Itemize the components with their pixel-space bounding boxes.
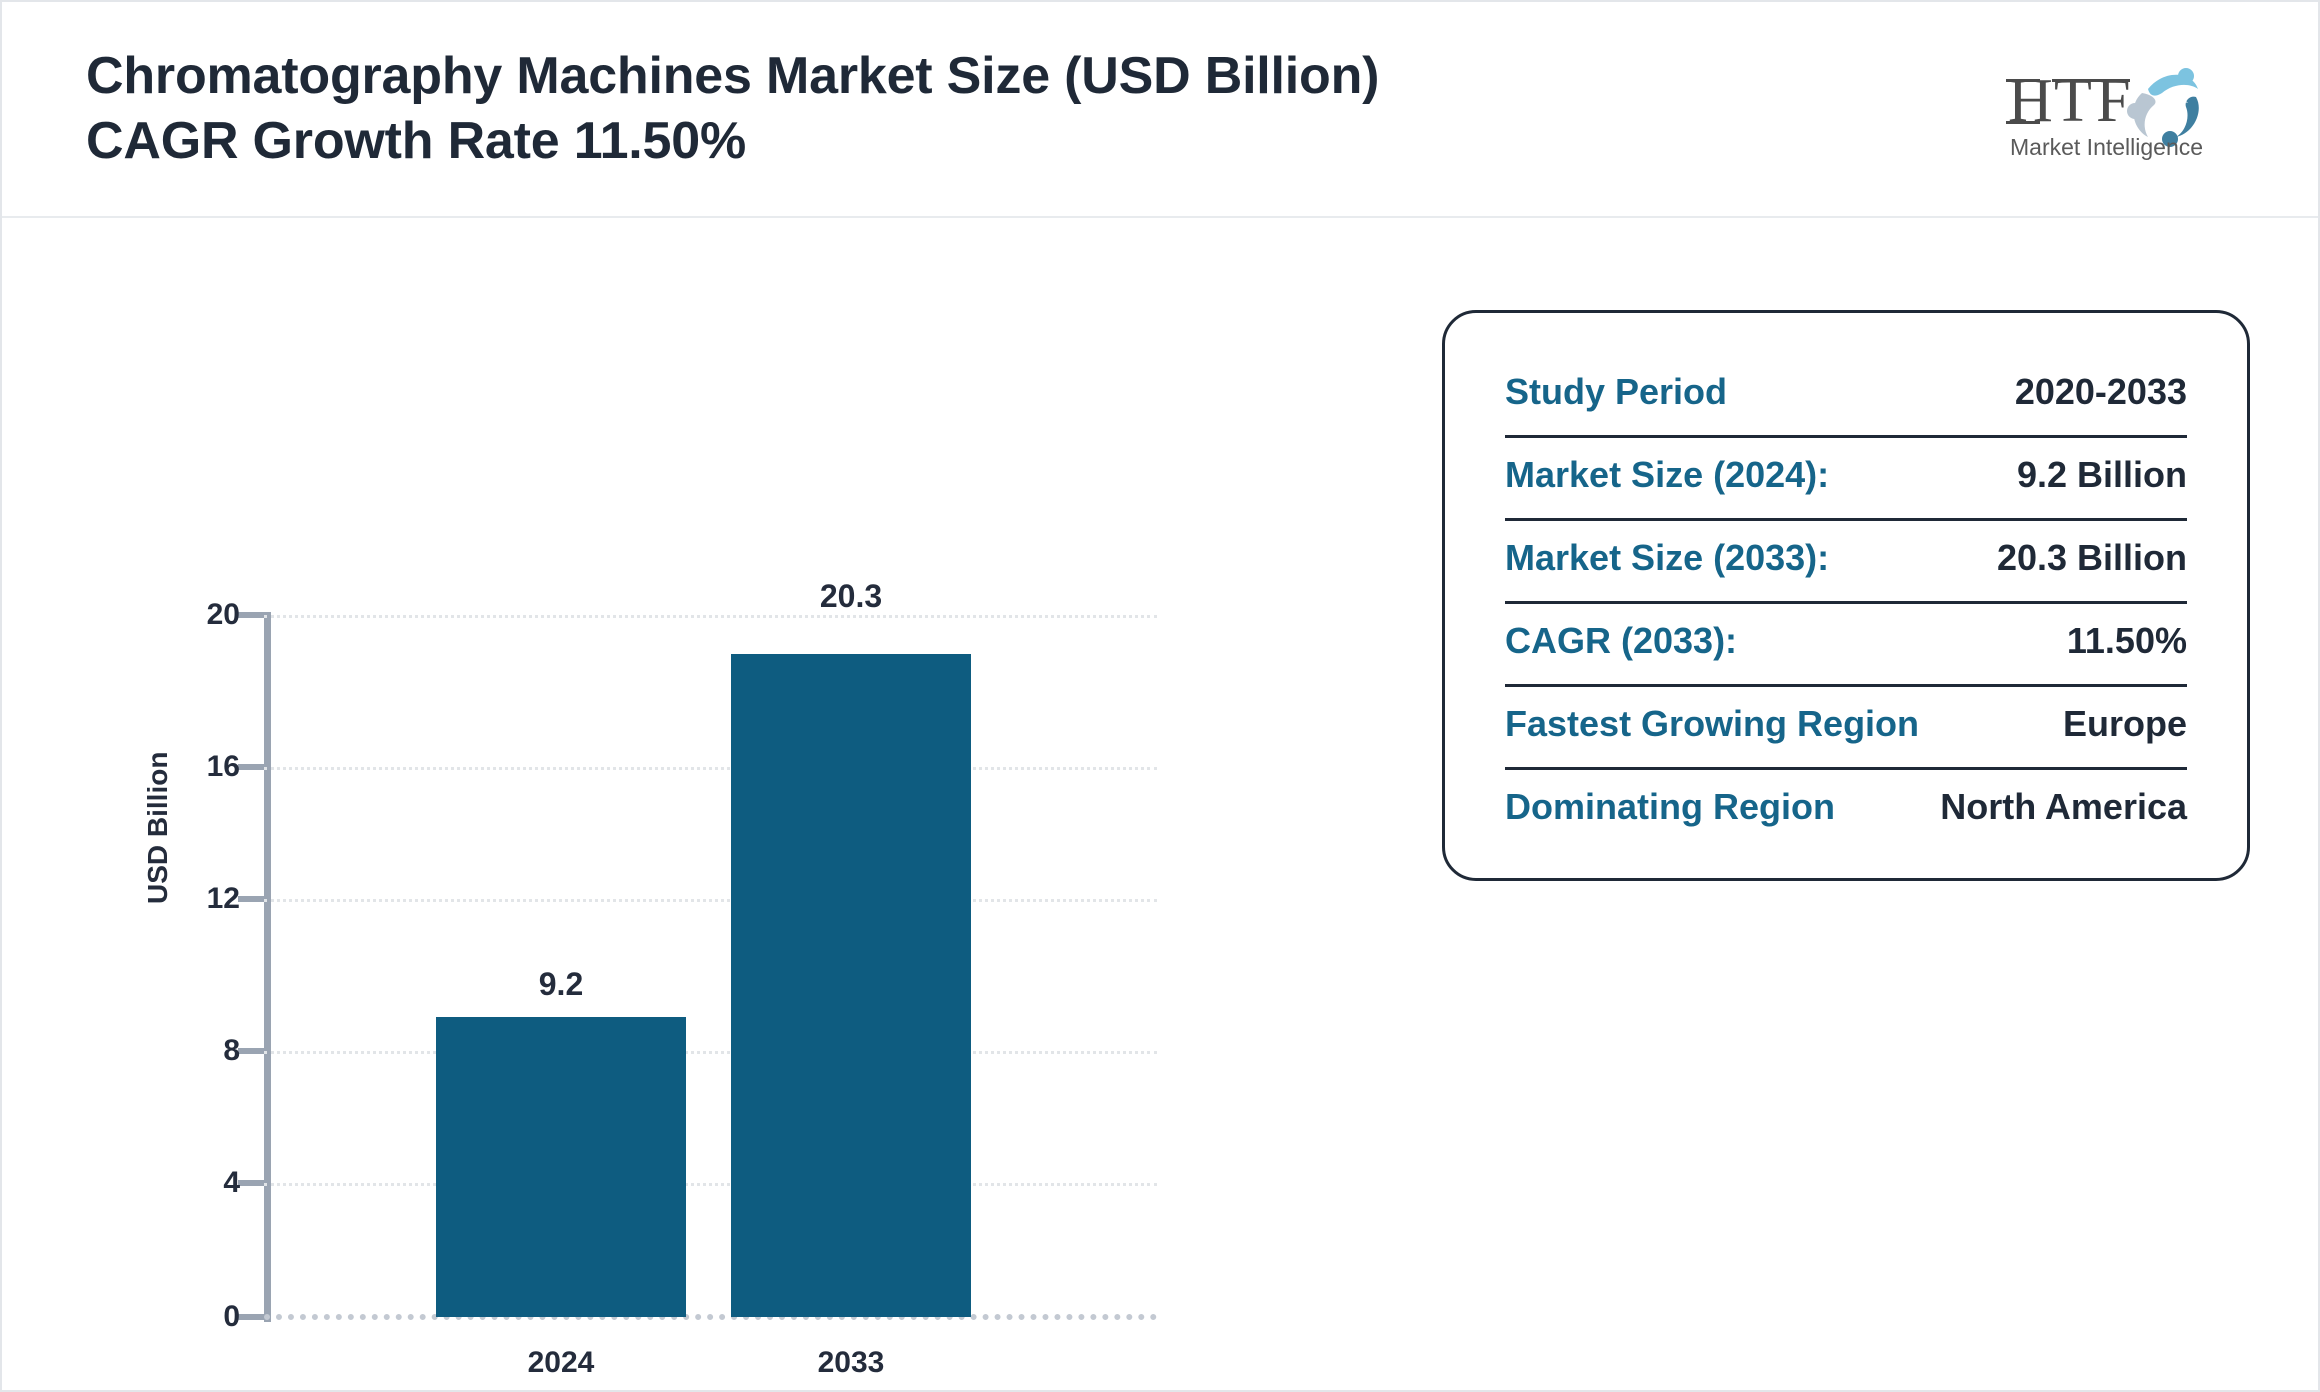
table-row: Dominating Region North America bbox=[1505, 770, 2187, 832]
y-tick-label-12: 12 bbox=[200, 882, 240, 916]
row-value-cagr-2033: 11.50% bbox=[2067, 620, 2187, 662]
svg-text:T: T bbox=[2054, 67, 2092, 135]
bar-chart: USD Billion 20 16 12 8 4 0 bbox=[2, 218, 1302, 1390]
gridline-20 bbox=[264, 615, 1157, 618]
row-label-cagr-2033: CAGR (2033): bbox=[1505, 620, 1737, 662]
bar-2024[interactable] bbox=[436, 1017, 686, 1317]
y-tick-8 bbox=[238, 1048, 264, 1054]
row-label-fastest-growing-region: Fastest Growing Region bbox=[1505, 703, 1919, 745]
gridline-12 bbox=[264, 899, 1157, 902]
row-value-fastest-growing-region: Europe bbox=[2063, 703, 2187, 745]
y-tick-20 bbox=[238, 612, 264, 618]
svg-text:H: H bbox=[2008, 67, 2053, 135]
y-tick-0 bbox=[238, 1314, 264, 1320]
row-value-market-size-2033: 20.3 Billion bbox=[1997, 537, 2187, 579]
gridline-8 bbox=[264, 1051, 1157, 1054]
page-title: Chromatography Machines Market Size (USD… bbox=[86, 44, 1406, 174]
row-label-market-size-2033: Market Size (2033): bbox=[1505, 537, 1829, 579]
row-label-dominating-region: Dominating Region bbox=[1505, 786, 1835, 828]
table-row: Study Period 2020-2033 bbox=[1505, 365, 2187, 438]
y-tick-12 bbox=[238, 896, 264, 902]
y-tick-label-0: 0 bbox=[208, 1300, 240, 1334]
market-summary-card: Study Period 2020-2033 Market Size (2024… bbox=[1442, 310, 2250, 881]
table-row: Market Size (2024): 9.2 Billion bbox=[1505, 438, 2187, 521]
svg-text:F: F bbox=[2096, 67, 2130, 135]
y-tick-label-8: 8 bbox=[208, 1034, 240, 1068]
y-tick-label-4: 4 bbox=[208, 1166, 240, 1200]
y-axis-label: USD Billion bbox=[142, 844, 174, 904]
bar-2033[interactable] bbox=[731, 654, 971, 1317]
body-area: USD Billion 20 16 12 8 4 0 bbox=[2, 218, 2318, 1390]
table-row: Market Size (2033): 20.3 Billion bbox=[1505, 521, 2187, 604]
plot-area bbox=[264, 615, 1157, 1317]
gridline-4 bbox=[264, 1183, 1157, 1186]
y-tick-16 bbox=[238, 764, 264, 770]
y-tick-label-20: 20 bbox=[200, 598, 240, 632]
logo-tagline: Market Intelligence bbox=[2010, 134, 2203, 160]
row-label-market-size-2024: Market Size (2024): bbox=[1505, 454, 1829, 496]
row-value-market-size-2024: 9.2 Billion bbox=[2017, 454, 2187, 496]
x-tick-label-2033: 2033 bbox=[818, 1346, 885, 1380]
row-value-dominating-region: North America bbox=[1940, 786, 2187, 828]
htf-swirl-logo: H T F bbox=[1992, 53, 2218, 165]
y-tick-label-16: 16 bbox=[200, 750, 240, 784]
x-tick-label-2024: 2024 bbox=[528, 1346, 595, 1380]
table-row: Fastest Growing Region Europe bbox=[1505, 687, 2187, 770]
infographic-page: Chromatography Machines Market Size (USD… bbox=[0, 0, 2320, 1392]
header: Chromatography Machines Market Size (USD… bbox=[2, 2, 2318, 218]
x-axis-baseline bbox=[264, 1314, 1157, 1320]
row-label-study-period: Study Period bbox=[1505, 371, 1727, 413]
row-value-study-period: 2020-2033 bbox=[2015, 371, 2187, 413]
gridline-16 bbox=[264, 767, 1157, 770]
bar-value-2024: 9.2 bbox=[539, 966, 583, 1003]
bar-value-2033: 20.3 bbox=[820, 578, 882, 615]
table-row: CAGR (2033): 11.50% bbox=[1505, 604, 2187, 687]
y-tick-4 bbox=[238, 1180, 264, 1186]
